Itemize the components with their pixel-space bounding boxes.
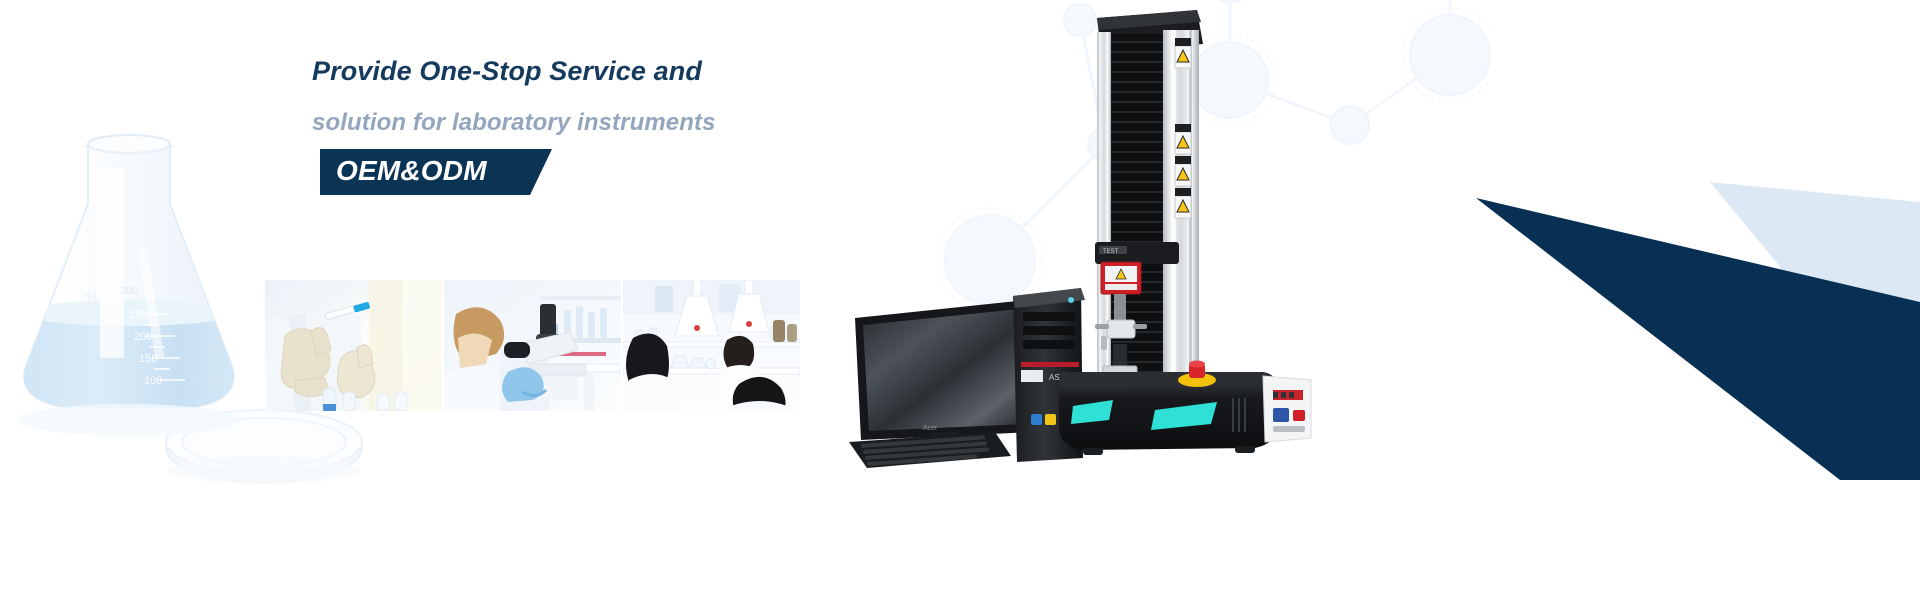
- control-panel: [1263, 376, 1311, 442]
- svg-text:Acer: Acer: [923, 425, 938, 432]
- svg-text:300: 300: [120, 285, 138, 297]
- svg-text:100: 100: [144, 375, 162, 387]
- photo-lab-team-at-benches: [623, 280, 800, 411]
- svg-text:200: 200: [134, 331, 152, 343]
- svg-text:150: 150: [139, 353, 157, 365]
- photo-strip: [265, 280, 800, 411]
- warning-triangle-label: [1175, 38, 1191, 218]
- moving-crosshead: TEST: [1095, 242, 1179, 264]
- equipment-photo: Acer: [845, 0, 1325, 470]
- universal-tensile-testing-machine: TEST: [1059, 10, 1311, 455]
- hero-banner: 300 250 200 150 100 ml Provide One-Stop …: [0, 0, 1920, 597]
- triangle-dark: [1476, 198, 1920, 480]
- load-cell: [1101, 262, 1141, 294]
- page-title: Provide One-Stop Service and: [312, 56, 932, 87]
- photo-scientist-at-microscope: [444, 280, 621, 411]
- svg-text:TEST: TEST: [1103, 249, 1119, 255]
- page-subtitle: solution for laboratory instruments: [312, 109, 932, 137]
- svg-text:ml: ml: [84, 289, 97, 303]
- oem-odm-badge: OEM&ODM: [320, 149, 552, 195]
- oem-odm-badge-label: OEM&ODM: [336, 155, 487, 187]
- erlenmeyer-flask: [12, 135, 252, 423]
- photo-gloved-hands-pipetting: [265, 280, 442, 411]
- machine-base: [1059, 372, 1277, 455]
- headline-block: Provide One-Stop Service and solution fo…: [312, 56, 932, 200]
- svg-text:250: 250: [129, 309, 147, 321]
- triangle-light: [1710, 182, 1920, 436]
